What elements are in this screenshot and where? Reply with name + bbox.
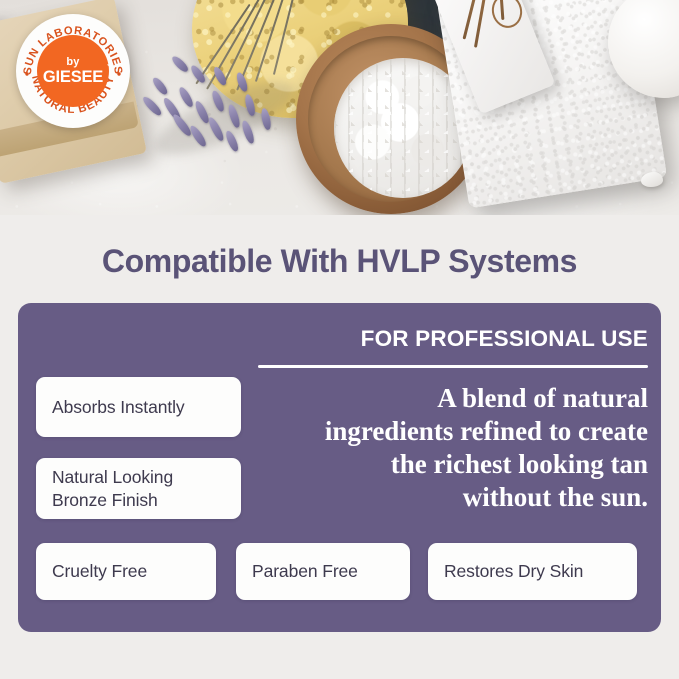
feature-label: Paraben Free bbox=[236, 560, 372, 583]
lavender-bud bbox=[243, 93, 256, 116]
lavender-bud bbox=[151, 76, 170, 97]
feature-label: Cruelty Free bbox=[36, 560, 161, 583]
lavender-bud bbox=[224, 129, 240, 152]
feature-pill-absorbs-instantly: Absorbs Instantly bbox=[36, 377, 241, 437]
product-infographic: SUN LABORATORIES NATURAL BEAUTY by GIESE… bbox=[0, 0, 679, 679]
feature-pill-restores-dry-skin: Restores Dry Skin bbox=[428, 543, 637, 600]
trademark-icon: ™ bbox=[107, 65, 112, 71]
feature-label: Natural LookingBronze Finish bbox=[36, 466, 187, 512]
feature-label: Absorbs Instantly bbox=[36, 396, 199, 419]
lavender-stem bbox=[206, 0, 259, 89]
hero-photo: SUN LABORATORIES NATURAL BEAUTY by GIESE… bbox=[0, 0, 679, 215]
description-line: ingredients refined to create bbox=[258, 415, 648, 448]
description-line: A blend of natural bbox=[258, 382, 648, 415]
lavender-bud bbox=[177, 85, 195, 108]
professional-use-heading: FOR PROFESSIONAL USE bbox=[258, 326, 648, 352]
lavender-bud bbox=[188, 124, 208, 148]
feature-pill-paraben-free: Paraben Free bbox=[236, 543, 410, 600]
product-description: A blend of natural ingredients refined t… bbox=[258, 382, 648, 514]
lavender-bud bbox=[170, 54, 190, 74]
small-stone bbox=[641, 172, 663, 187]
feature-pill-cruelty-free: Cruelty Free bbox=[36, 543, 216, 600]
lavender-bud bbox=[240, 119, 256, 144]
description-line: the richest looking tan bbox=[258, 448, 648, 481]
badge-brand-name: GIESEE ™ bbox=[43, 69, 103, 86]
page-title: Compatible With HVLP Systems bbox=[0, 243, 679, 280]
description-line: without the sun. bbox=[258, 481, 648, 514]
badge-brand-name-text: GIESEE bbox=[43, 68, 103, 86]
feature-pill-natural-looking-bronze-finish: Natural LookingBronze Finish bbox=[36, 458, 241, 519]
lavender-bud bbox=[260, 107, 272, 130]
heading-divider bbox=[258, 365, 648, 368]
brand-badge: SUN LABORATORIES NATURAL BEAUTY by GIESE… bbox=[16, 14, 130, 128]
lavender-bud bbox=[226, 103, 241, 128]
lavender-bud bbox=[171, 112, 193, 137]
badge-by-label: by bbox=[66, 57, 79, 68]
lavender-bud bbox=[210, 89, 226, 112]
badge-center: by GIESEE ™ bbox=[37, 35, 109, 107]
lavender-bud bbox=[141, 95, 163, 118]
lavender-bud bbox=[206, 116, 225, 143]
feature-label: Restores Dry Skin bbox=[428, 560, 597, 583]
